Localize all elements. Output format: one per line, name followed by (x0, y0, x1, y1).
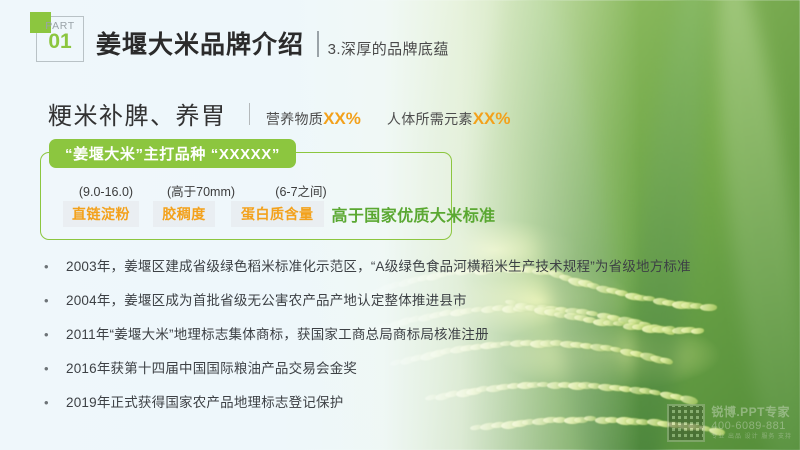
part-number: 01 (36, 31, 84, 52)
bullet-marker-icon: • (44, 259, 66, 274)
watermark-brand: 锐博.PPT专家 (711, 405, 792, 420)
list-item-text: 2016年获第十四届中国国际粮油产品交易会金奖 (66, 357, 357, 377)
leaf-blade (698, 0, 800, 450)
bullet-marker-icon: • (44, 361, 66, 376)
list-item: • 2011年“姜堰大米”地理标志集体商标，获国家工商总局商标局核准注册 (44, 323, 684, 343)
spec-unit-gel: (高于70mm) (149, 181, 253, 200)
stat-elements-label: 人体所需元素 (387, 111, 473, 127)
lead-headline: 粳米补脾、养胃 (48, 96, 227, 131)
stat-elements-value: XX% (473, 109, 511, 128)
watermark: 锐博.PPT专家 400-6089-881 专业 出品 设计 服务 支持 (667, 404, 792, 442)
bullet-marker-icon: • (44, 293, 66, 308)
list-item-text: 2003年，姜堰区建成省级绿色稻米标准化示范区，“A级绿色食品河横稻米生产技术规… (66, 255, 691, 275)
spec-tag-gel: 胶稠度 (153, 201, 215, 227)
standard-note: 高于国家优质大米标准 (332, 202, 496, 226)
achievement-list: • 2003年，姜堰区建成省级绿色稻米标准化示范区，“A级绿色食品河横稻米生产技… (44, 255, 684, 425)
watermark-tagline: 专业 出品 设计 服务 支持 (711, 434, 792, 442)
variety-card: “姜堰大米”主打品种 “XXXXX” (9.0-16.0) (高于70mm) (… (40, 152, 452, 240)
bullet-marker-icon: • (44, 395, 66, 410)
stat-nutrient-label: 营养物质 (266, 111, 323, 127)
list-item: • 2019年正式获得国家农产品地理标志登记保护 (44, 391, 684, 411)
part-badge: PART 01 (30, 12, 84, 62)
spec-units-row: (9.0-16.0) (高于70mm) (6-7之间) (63, 181, 349, 200)
spec-tag-amylose: 直链淀粉 (63, 201, 139, 227)
slide-canvas: PART 01 姜堰大米品牌介绍 3.深厚的品牌底蕴 粳米补脾、养胃 营养物质X… (0, 0, 800, 450)
bullet-marker-icon: • (44, 327, 66, 342)
list-item-text: 2011年“姜堰大米”地理标志集体商标，获国家工商总局商标局核准注册 (66, 323, 489, 343)
list-item: • 2016年获第十四届中国国际粮油产品交易会金奖 (44, 357, 684, 377)
qr-code-icon (667, 404, 705, 442)
rice-grain (700, 304, 717, 312)
list-item: • 2003年，姜堰区建成省级绿色稻米标准化示范区，“A级绿色食品河横稻米生产技… (44, 255, 684, 275)
page-title: 姜堰大米品牌介绍 (96, 33, 304, 62)
spec-tag-protein: 蛋白质含量 (231, 201, 324, 227)
stat-nutrient: 营养物质XX% (266, 109, 361, 129)
page-subtitle: 3.深厚的品牌底蕴 (328, 42, 449, 62)
spec-tags-row: 直链淀粉 胶稠度 蛋白质含量 高于国家优质大米标准 (63, 201, 496, 227)
slide-header: PART 01 姜堰大米品牌介绍 3.深厚的品牌底蕴 (30, 12, 449, 62)
lead-divider (249, 103, 250, 125)
list-item-text: 2019年正式获得国家农产品地理标志登记保护 (66, 391, 343, 411)
stat-nutrient-value: XX% (323, 109, 361, 128)
spec-unit-protein: (6-7之间) (253, 181, 349, 200)
variety-card-title: “姜堰大米”主打品种 “XXXXX” (49, 139, 296, 168)
lead-row: 粳米补脾、养胃 营养物质XX% 人体所需元素XX% (48, 96, 537, 131)
watermark-text: 锐博.PPT专家 400-6089-881 专业 出品 设计 服务 支持 (711, 405, 792, 441)
list-item: • 2004年，姜堰区成为首批省级无公害农产品产地认定整体推进县市 (44, 289, 684, 309)
watermark-phone: 400-6089-881 (711, 420, 792, 434)
stat-elements: 人体所需元素XX% (387, 109, 511, 129)
rice-grain (691, 328, 704, 334)
title-divider (317, 31, 319, 57)
list-item-text: 2004年，姜堰区成为首批省级无公害农产品产地认定整体推进县市 (66, 289, 467, 309)
spec-unit-amylose: (9.0-16.0) (63, 185, 149, 199)
